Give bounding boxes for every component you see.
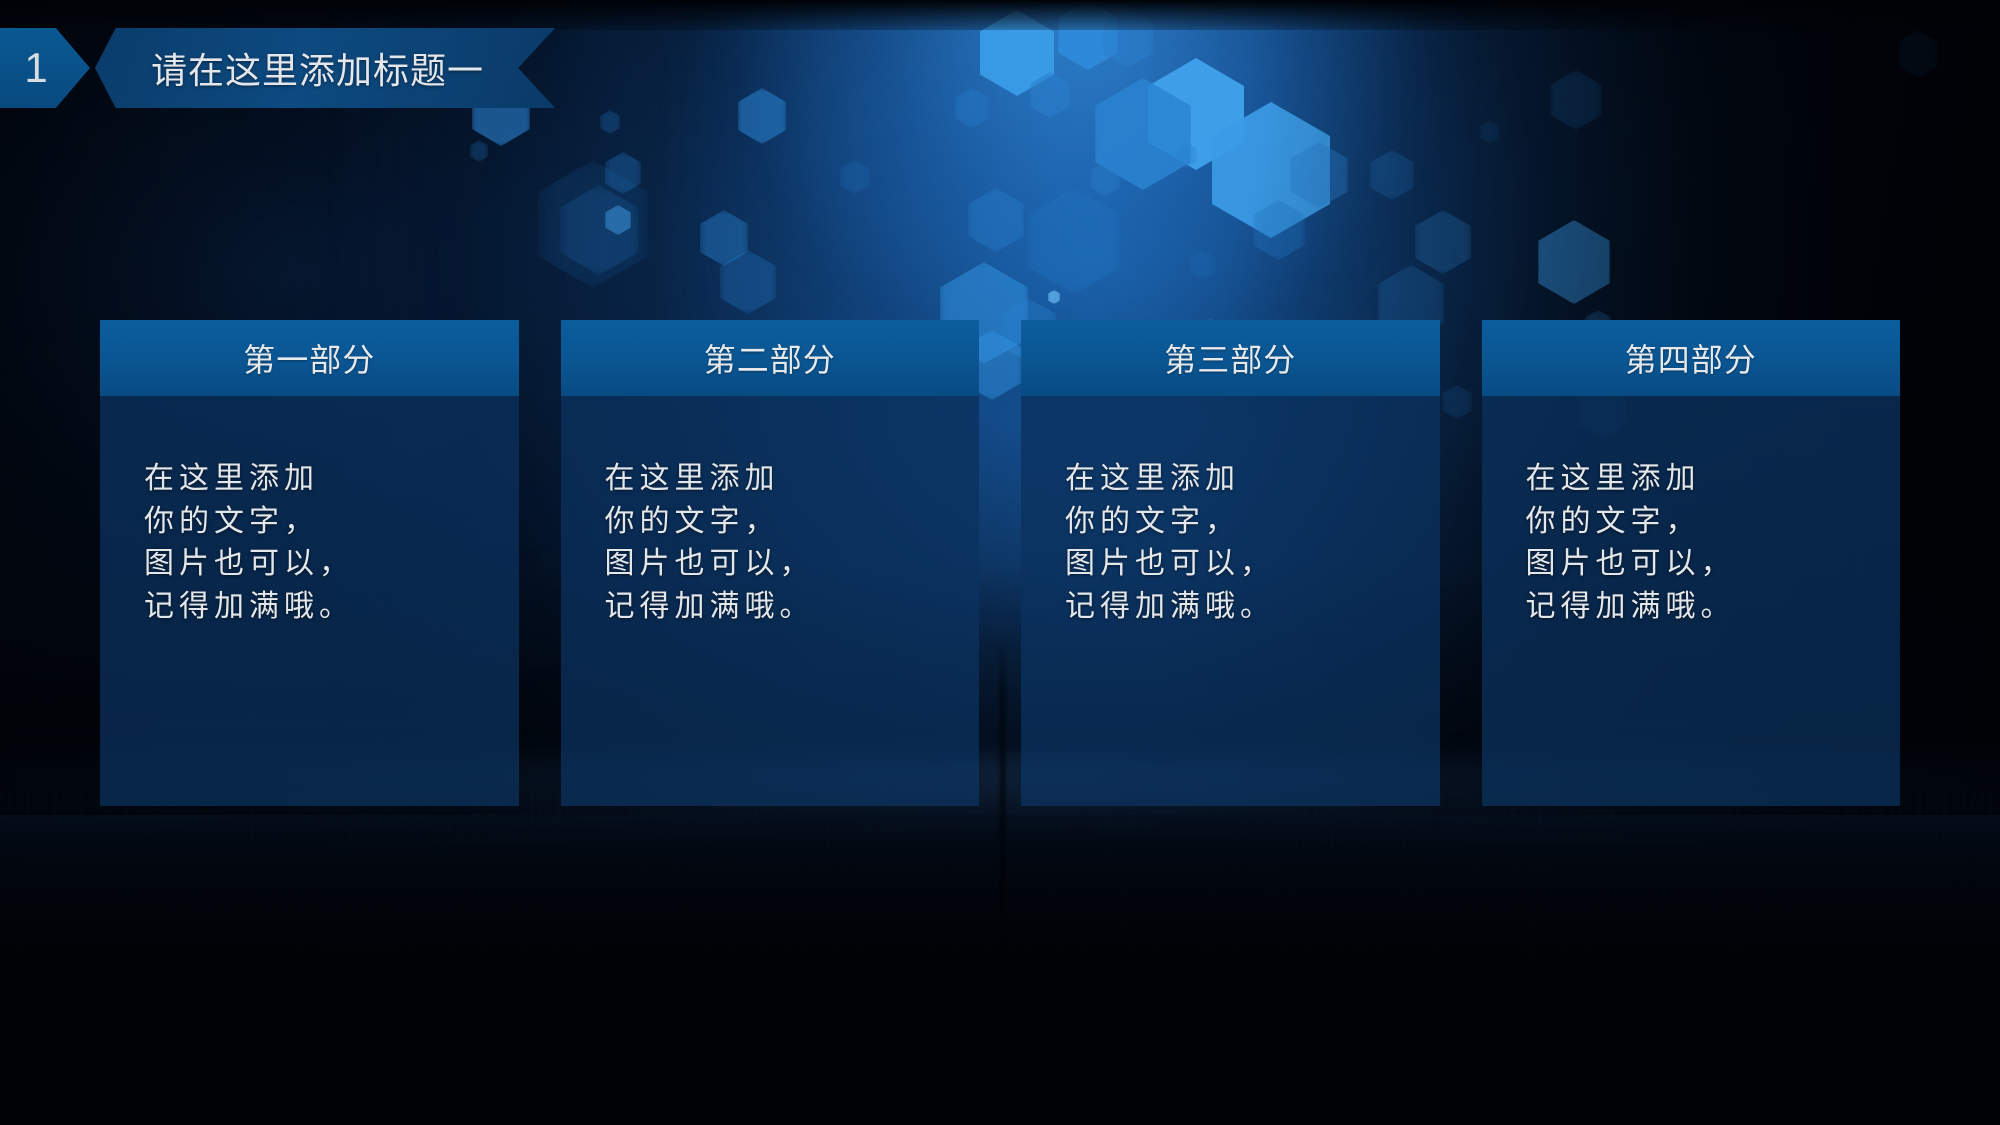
card-heading-1: 第一部分 xyxy=(243,335,375,381)
card-body-2[interactable]: 在这里添加 你的文字， 图片也可以， 记得加满哦。 xyxy=(561,396,980,806)
card-body-1[interactable]: 在这里添加 你的文字， 图片也可以， 记得加满哦。 xyxy=(100,396,519,806)
card-heading-2: 第二部分 xyxy=(704,335,836,381)
content-card-4[interactable]: 第四部分 在这里添加 你的文字， 图片也可以， 记得加满哦。 xyxy=(1482,320,1901,806)
card-header-3: 第三部分 xyxy=(1021,320,1440,396)
slide-number-label: 1 xyxy=(24,47,65,89)
card-header-1: 第一部分 xyxy=(100,320,519,396)
slide-canvas: 1 请在这里添加标题一 第一部分 在这里添加 你的文字， 图片也可以， 记得加满… xyxy=(0,0,2000,1125)
card-heading-4: 第四部分 xyxy=(1625,335,1757,381)
card-header-2: 第二部分 xyxy=(561,320,980,396)
slide-title-banner: 请在这里添加标题一 xyxy=(95,28,555,108)
card-body-3[interactable]: 在这里添加 你的文字， 图片也可以， 记得加满哦。 xyxy=(1021,396,1440,806)
card-grid: 第一部分 在这里添加 你的文字， 图片也可以， 记得加满哦。 第二部分 在这里添… xyxy=(100,320,1900,806)
background-vignette-top xyxy=(0,0,2000,30)
card-heading-3: 第三部分 xyxy=(1164,335,1296,381)
card-text-4: 在这里添加 你的文字， 图片也可以， 记得加满哦。 xyxy=(1526,458,1901,628)
card-header-4: 第四部分 xyxy=(1482,320,1901,396)
content-card-3[interactable]: 第三部分 在这里添加 你的文字， 图片也可以， 记得加满哦。 xyxy=(1021,320,1440,806)
content-card-1[interactable]: 第一部分 在这里添加 你的文字， 图片也可以， 记得加满哦。 xyxy=(100,320,519,806)
card-text-1: 在这里添加 你的文字， 图片也可以， 记得加满哦。 xyxy=(144,458,519,628)
card-text-3: 在这里添加 你的文字， 图片也可以， 记得加满哦。 xyxy=(1065,458,1440,628)
card-body-4[interactable]: 在这里添加 你的文字， 图片也可以， 记得加满哦。 xyxy=(1482,396,1901,806)
content-card-2[interactable]: 第二部分 在这里添加 你的文字， 图片也可以， 记得加满哦。 xyxy=(561,320,980,806)
card-text-2: 在这里添加 你的文字， 图片也可以， 记得加满哦。 xyxy=(605,458,980,628)
page-title: 请在这里添加标题一 xyxy=(151,42,484,94)
